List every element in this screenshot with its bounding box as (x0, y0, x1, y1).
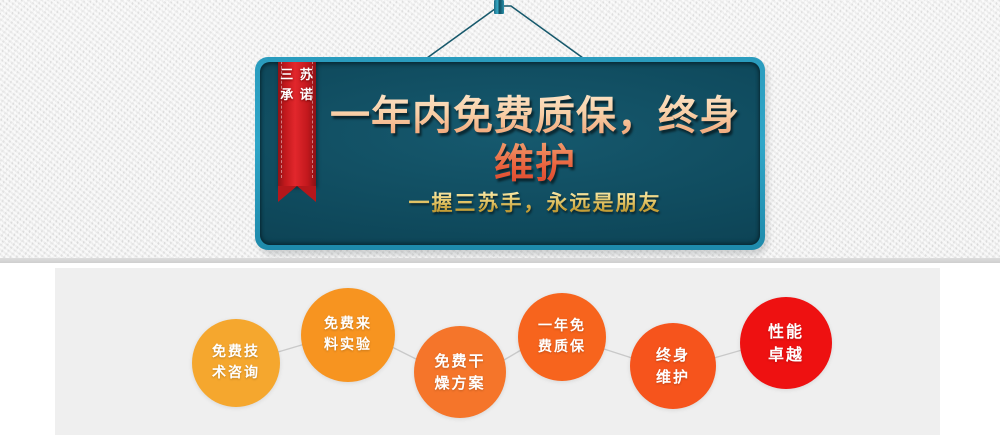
feature-label-line1: 一年免 (538, 316, 586, 337)
feature-circle[interactable]: 一年免费质保 (518, 293, 606, 381)
banner-headline: 一年内免费质保，终身维护 (320, 92, 750, 188)
ribbon-char-2: 苏 (300, 68, 314, 83)
connector-line (278, 344, 305, 352)
feature-label-line2: 费质保 (538, 337, 586, 358)
sign-board: 三 苏 承 诺 一年内免费质保，终身维护 一握三苏手，永远是朋友 (255, 57, 765, 250)
board-face: 三 苏 承 诺 一年内免费质保，终身维护 一握三苏手，永远是朋友 (260, 62, 760, 245)
board-frame: 三 苏 承 诺 一年内免费质保，终身维护 一握三苏手，永远是朋友 (255, 57, 765, 250)
feature-label-line1: 免费技 (212, 342, 260, 363)
feature-label-line2: 术咨询 (212, 363, 260, 384)
feature-label-line2: 维护 (656, 366, 690, 388)
promo-banner: 三 苏 承 诺 一年内免费质保，终身维护 一握三苏手，永远是朋友 免费技术咨询免… (0, 0, 1000, 435)
hanging-wire-icon (425, 0, 585, 62)
banner-subline: 一握三苏手，永远是朋友 (320, 188, 750, 218)
connector-line (504, 350, 521, 360)
feature-circle[interactable]: 免费技术咨询 (192, 319, 280, 407)
feature-label-line2: 燥方案 (434, 372, 485, 394)
feature-label-line1: 免费来 (324, 314, 372, 335)
ribbon-char-1: 三 (280, 68, 294, 83)
ribbon-label: 三 苏 承 诺 (278, 66, 316, 106)
feature-label-line1: 性能 (768, 320, 804, 343)
connector-line (604, 349, 632, 358)
feature-circle[interactable]: 免费干燥方案 (414, 326, 506, 418)
feature-circle[interactable]: 性能卓越 (740, 297, 832, 389)
feature-label-line1: 终身 (656, 344, 690, 366)
hanging-hook-icon (494, 0, 504, 14)
ribbon-char-3: 承 (280, 88, 294, 103)
connector-line (714, 350, 742, 358)
feature-label-line2: 卓越 (768, 343, 804, 366)
connector-line (392, 347, 418, 360)
promise-ribbon: 三 苏 承 诺 (278, 62, 316, 186)
feature-circle[interactable]: 终身维护 (630, 323, 716, 409)
feature-label-line2: 料实验 (324, 335, 372, 356)
feature-circle[interactable]: 免费来料实验 (301, 288, 395, 382)
feature-label-line1: 免费干 (434, 350, 485, 372)
ribbon-char-4: 诺 (300, 88, 314, 103)
feature-circle-group: 免费技术咨询免费来料实验免费干燥方案一年免费质保终身维护性能卓越 (0, 268, 1000, 435)
